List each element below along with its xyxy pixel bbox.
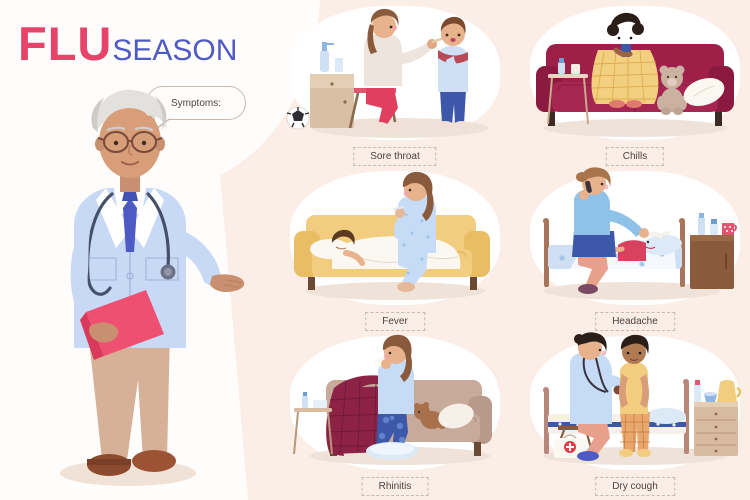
symptom-card-dry-cough[interactable]: Dry cough bbox=[522, 334, 748, 498]
mother-hand-phone bbox=[579, 190, 589, 200]
plaid-blanket bbox=[592, 50, 659, 104]
tie-knot bbox=[122, 192, 138, 201]
nightstand bbox=[690, 235, 734, 289]
doctor-eye-left bbox=[114, 141, 118, 145]
symptom-grid: Sore throat bbox=[282, 4, 748, 498]
symptom-label: Dry cough bbox=[595, 477, 675, 496]
symptom-label: Chills bbox=[606, 147, 664, 166]
tissue-box bbox=[313, 400, 327, 408]
scene-dry-cough bbox=[522, 334, 748, 472]
mother-slipper-b bbox=[385, 122, 403, 132]
scene-fever bbox=[282, 169, 508, 307]
scene-sore-throat bbox=[282, 4, 508, 142]
doctor-illustration bbox=[30, 80, 245, 492]
doctor-hand-right bbox=[210, 274, 244, 292]
symptom-label: Headache bbox=[595, 312, 675, 331]
mug bbox=[571, 64, 580, 74]
symptom-card-rhinitis[interactable]: Rhinitis bbox=[282, 334, 508, 498]
medicine-bottle bbox=[558, 62, 565, 74]
bottle bbox=[694, 384, 701, 402]
soap-bottle bbox=[320, 50, 329, 72]
bottle-small bbox=[710, 223, 718, 235]
side-table bbox=[548, 74, 588, 78]
dresser bbox=[694, 402, 738, 456]
mug bbox=[722, 223, 734, 235]
side-table bbox=[294, 408, 332, 412]
bottle bbox=[302, 396, 308, 408]
scene-headache bbox=[522, 169, 748, 307]
symptom-label: Fever bbox=[365, 312, 425, 331]
shoe-right bbox=[132, 450, 176, 472]
title-secondary: SEASON bbox=[112, 34, 237, 67]
symptom-card-chills[interactable]: Chills bbox=[522, 4, 748, 168]
doctor-eye-right bbox=[142, 141, 146, 145]
symptom-card-sore-throat[interactable]: Sore throat bbox=[282, 4, 508, 168]
scene-rhinitis bbox=[282, 334, 508, 472]
title-primary: FLU bbox=[18, 17, 112, 70]
glass bbox=[335, 58, 343, 72]
juice-jug bbox=[717, 380, 737, 402]
bottle-tall bbox=[698, 217, 705, 235]
pillow bbox=[646, 408, 686, 424]
girl-hand bbox=[381, 359, 391, 369]
boy-legs bbox=[440, 90, 466, 124]
page-title: FLUSEASON bbox=[18, 16, 237, 71]
scene-chills bbox=[522, 4, 748, 142]
symptom-card-fever[interactable]: Fever bbox=[282, 169, 508, 333]
symptom-label: Rhinitis bbox=[362, 477, 429, 496]
infographic-canvas: FLUSEASON Symptoms: bbox=[0, 0, 750, 500]
symptom-card-headache[interactable]: Headache bbox=[522, 169, 748, 333]
symptom-label: Sore throat bbox=[353, 147, 436, 166]
